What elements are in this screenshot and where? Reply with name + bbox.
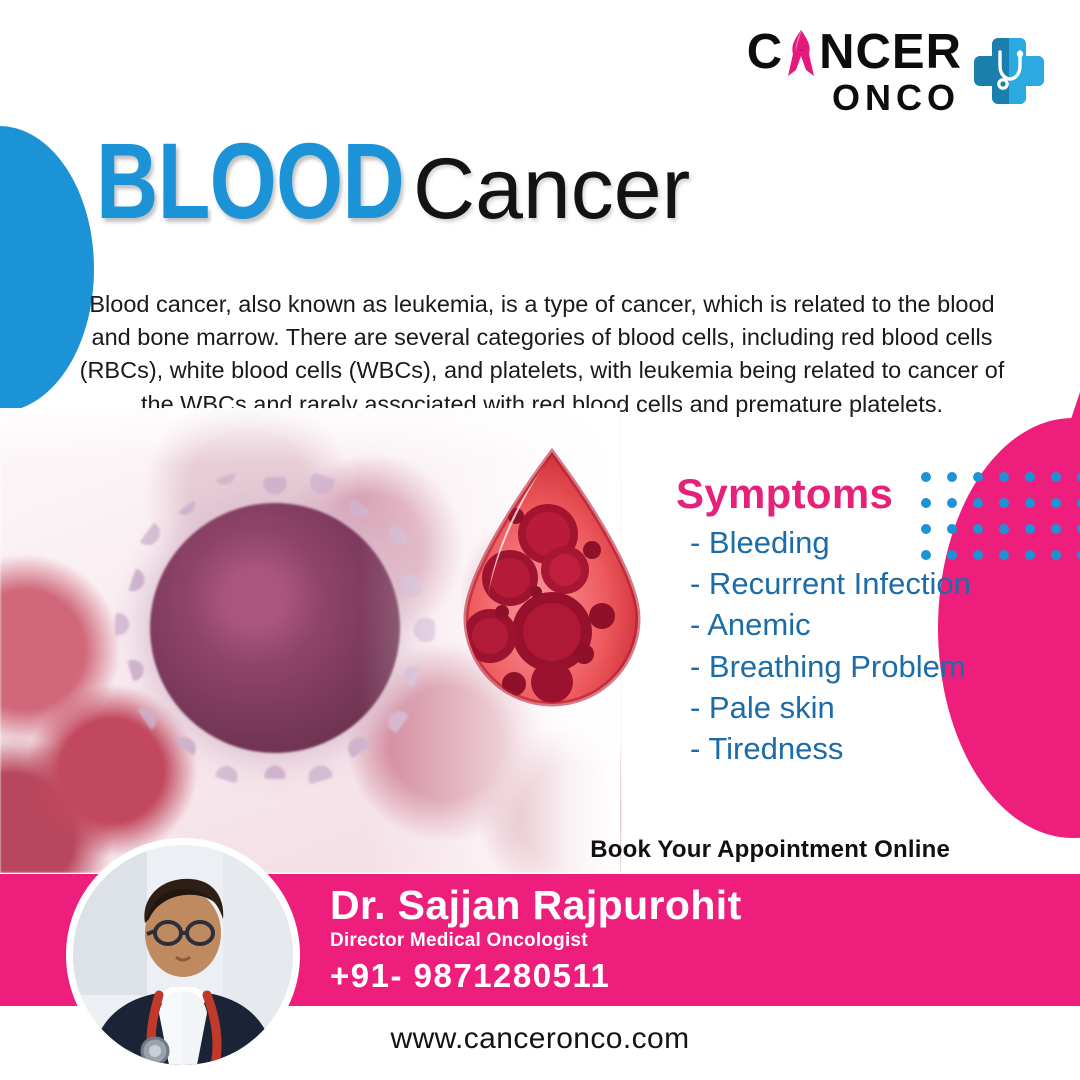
list-item: - Tiredness <box>676 728 1006 769</box>
brand-logo[interactable]: C NCER ONCO <box>747 26 1046 116</box>
list-item: - Pale skin <box>676 687 1006 728</box>
brand-wordmark: C NCER ONCO <box>747 26 962 116</box>
symptoms-section: Symptoms - Bleeding - Recurrent Infectio… <box>676 470 1006 769</box>
list-item: - Breathing Problem <box>676 646 1006 687</box>
doctor-phone[interactable]: +91- 9871280511 <box>330 957 742 995</box>
doctor-role: Director Medical Oncologist <box>330 930 742 952</box>
medical-cross-stethoscope-icon <box>972 34 1046 108</box>
website-url[interactable]: www.canceronco.com <box>0 1022 1080 1056</box>
poster-canvas: C NCER ONCO <box>0 0 1080 1080</box>
title-word-cancer: Cancer <box>413 140 690 239</box>
list-item: - Anemic <box>676 604 1006 645</box>
brand-name-bottom: ONCO <box>832 80 960 116</box>
brand-letter-c: C <box>747 28 783 77</box>
pink-ribbon-icon <box>784 26 818 78</box>
symptoms-list: - Bleeding - Recurrent Infection - Anemi… <box>676 522 1006 769</box>
appointment-cta[interactable]: Book Your Appointment Online <box>590 836 950 864</box>
doctor-details: Dr. Sajjan Rajpurohit Director Medical O… <box>330 884 742 995</box>
list-item: - Bleeding <box>676 522 1006 563</box>
doctor-name: Dr. Sajjan Rajpurohit <box>330 884 742 927</box>
symptoms-title: Symptoms <box>676 470 1006 518</box>
title-word-blood: BLOOD <box>96 118 404 243</box>
blood-drop-illustration <box>452 446 652 708</box>
intro-paragraph: Blood cancer, also known as leukemia, is… <box>78 288 1006 421</box>
page-title: BLOOD Cancer <box>96 118 690 243</box>
brand-name-top: C NCER <box>747 26 962 78</box>
brand-letters-ncer: NCER <box>819 28 962 77</box>
list-item: - Recurrent Infection <box>676 563 1006 604</box>
